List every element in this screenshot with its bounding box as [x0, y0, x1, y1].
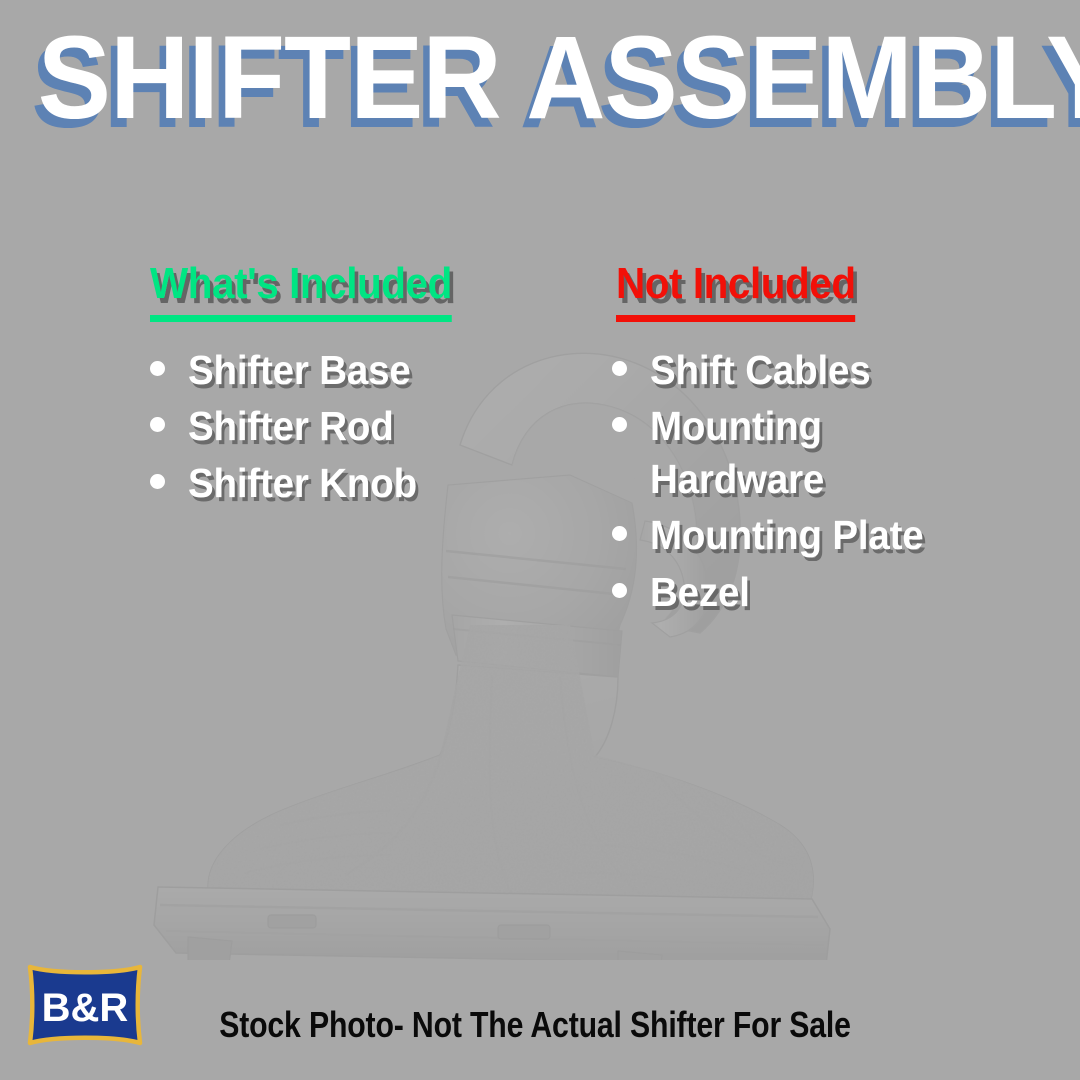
list-item: Shifter Rod: [150, 400, 500, 452]
bullet-dot-icon: [150, 417, 165, 432]
brand-logo-text: B&R: [42, 986, 129, 1030]
brand-logo: B&R: [24, 963, 146, 1047]
list-item-label: Shifter Rod: [188, 400, 394, 452]
list-item-label: Shift Cables: [650, 344, 870, 396]
not-included-list: Shift Cables Mounting Hardware Mounting …: [612, 344, 972, 622]
included-list: Shifter Base Shifter Rod Shifter Knob: [150, 344, 500, 513]
list-item-label: Shifter Knob: [188, 457, 417, 509]
page-title: SHIFTER ASSEMBLY: [38, 18, 1042, 138]
list-item: Mounting Plate: [612, 509, 972, 561]
list-item-label: Mounting Hardware: [650, 400, 953, 505]
bullet-dot-icon: [150, 474, 165, 489]
bullet-dot-icon: [612, 583, 627, 598]
list-item: Shift Cables: [612, 344, 972, 396]
bullet-dot-icon: [612, 417, 627, 432]
list-item: Shifter Knob: [150, 457, 500, 509]
product-listing-graphic: SHIFTER ASSEMBLY What's Included Shifter…: [0, 0, 1080, 1080]
bullet-dot-icon: [612, 361, 627, 376]
bullet-dot-icon: [150, 361, 165, 376]
list-item: Bezel: [612, 566, 972, 618]
included-heading: What's Included: [150, 262, 452, 322]
list-item: Mounting Hardware: [612, 400, 972, 505]
bullet-dot-icon: [612, 526, 627, 541]
stock-photo-disclaimer: Stock Photo- Not The Actual Shifter For …: [219, 1004, 841, 1046]
list-item-label: Mounting Plate: [650, 509, 924, 561]
list-item-label: Bezel: [650, 566, 750, 618]
list-item: Shifter Base: [150, 344, 500, 396]
list-item-label: Shifter Base: [188, 344, 411, 396]
not-included-heading: Not Included: [616, 262, 856, 322]
